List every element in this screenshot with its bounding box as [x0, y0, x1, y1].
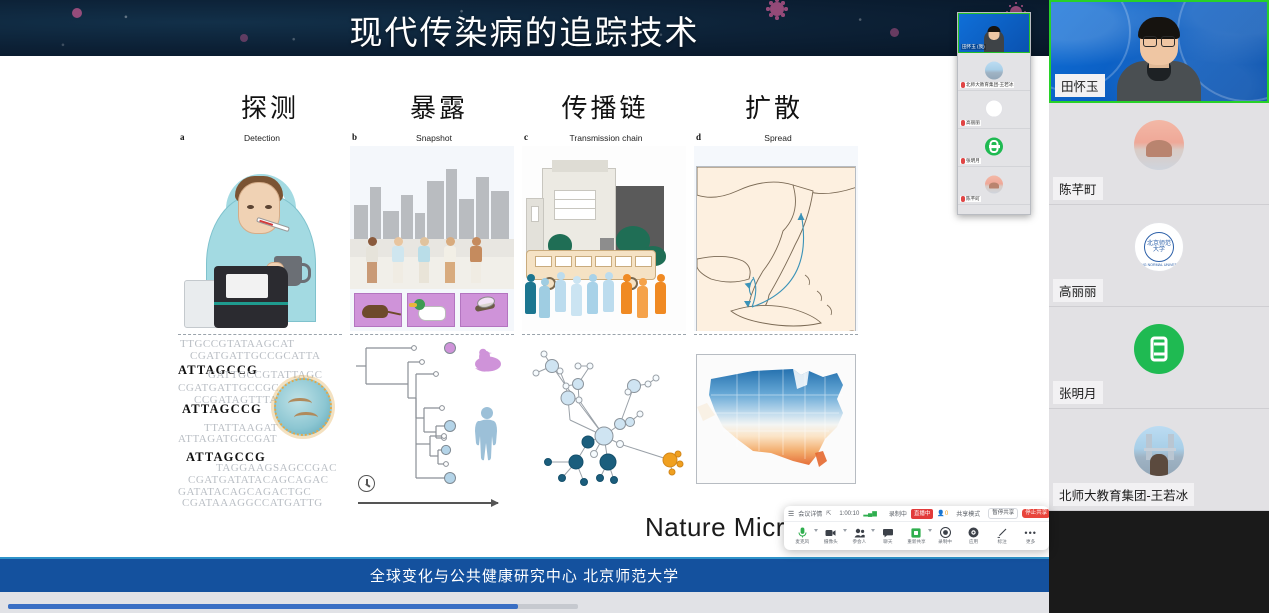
microphone-icon	[797, 527, 808, 538]
bus-window	[555, 256, 572, 267]
bus-window	[595, 256, 612, 267]
apps-icon	[968, 527, 979, 538]
dna-faint-line: CGATGATATACAGCAGAC	[188, 474, 328, 486]
slide-footer-band: 全球变化与公共健康研究中心 北京师范大学	[0, 559, 1049, 592]
window-band	[554, 190, 596, 220]
share-toolbar-status-row: ☰ 会议详情 ⇱ 1:00:10 ▂▄▆ 录制中 直播中 👤0 共享模式 暂停共…	[784, 506, 1049, 522]
atlantic-map	[696, 166, 856, 331]
dna-faint-line: CGATAAAGGCCATGATTG	[182, 497, 323, 509]
pedestrian	[416, 237, 432, 283]
pedestrian-legs	[393, 262, 403, 283]
crowd-person-body	[603, 280, 614, 312]
mini-participant-tile[interactable]: 高丽丽	[958, 91, 1030, 129]
toolbar-button-camera[interactable]: 摄像头	[818, 527, 844, 545]
section-header-spread: 扩散	[709, 88, 839, 125]
participant-count-icon[interactable]: 👤0	[937, 510, 948, 517]
skyline-building	[476, 177, 489, 239]
participant-name: 张明月	[1053, 381, 1103, 404]
crowd-person-body	[555, 280, 566, 312]
dna-sequence-illustration: TTGCCGTATAAGCAT CGATGATTGCCGCATTA ATTAGC…	[178, 340, 342, 518]
crowd-person-body	[655, 282, 666, 314]
slide-title: 现代传染病的追踪技术	[0, 6, 1049, 54]
participant-filmstrip[interactable]: 田怀玉 陈芊町 北京师范大学 BEIJING NORMAL UNIVERSITY…	[1049, 0, 1269, 613]
participant-name: 北师大教育集团-王若冰	[1053, 483, 1194, 506]
us-choropleth-map	[696, 354, 856, 484]
us-map-svg	[697, 355, 856, 484]
human-host-icon	[474, 406, 500, 467]
slide-bottom-strip	[0, 592, 1049, 613]
toolbar-button-chat[interactable]: 聊天	[875, 527, 901, 545]
hamburger-icon[interactable]: ☰	[788, 510, 794, 518]
mini-participant-name: 北师大教育集团-王若冰	[960, 82, 1014, 88]
section-header-transmission: 传播链	[540, 88, 670, 125]
mini-participant-tile[interactable]: 陈芊町	[958, 167, 1030, 205]
rat-icon	[362, 305, 388, 318]
phylogenetic-tree-illustration	[350, 340, 514, 518]
muted-mic-icon	[961, 196, 965, 202]
figure-panel-b: b Snapshot	[350, 128, 518, 528]
mosquito-icon	[475, 302, 496, 312]
crowd-person-infected	[654, 274, 667, 314]
hospital-building-roof	[552, 160, 608, 172]
toolbar-label: 录制中	[938, 539, 952, 545]
crowd-person-head	[527, 274, 535, 282]
crowd-person-body	[525, 282, 536, 314]
crowd-person-head	[623, 274, 631, 282]
duck-host-icon	[472, 348, 506, 379]
pedestrian	[468, 237, 484, 283]
animal-reservoir-duck	[407, 293, 455, 327]
clock-icon	[358, 475, 375, 492]
crowd-person	[586, 274, 599, 314]
skyline-building	[354, 205, 368, 239]
pedestrian-legs	[471, 262, 481, 283]
sequencer-light-unit	[184, 280, 218, 328]
window-line	[554, 208, 596, 209]
avatar	[1134, 426, 1184, 476]
avatar	[985, 99, 1003, 117]
share-toolbar-buttons-row: 麦克风 摄像头 参会人 聊天	[784, 522, 1049, 550]
person-silhouette	[1150, 454, 1168, 476]
eye-left-icon	[247, 205, 254, 209]
crowd-person-body	[539, 286, 550, 318]
dna-faint-line: ATTAGATGCCGAT	[178, 433, 277, 445]
mini-participant-name: 张明月	[960, 158, 981, 164]
crowd-person	[554, 272, 567, 312]
section-header-detection: 探测	[205, 88, 335, 125]
crowd-person-infected	[620, 274, 633, 314]
crowd-person	[538, 278, 551, 318]
share-mode-label: 共享模式	[956, 509, 980, 518]
bus-window	[535, 256, 552, 267]
toolbar-label: 麦克风	[795, 539, 809, 545]
eye-right-icon	[265, 205, 272, 209]
pause-share-button[interactable]: 暂停共享	[988, 508, 1018, 519]
crowd-person-head	[657, 274, 665, 282]
muted-mic-icon	[961, 82, 965, 88]
avatar: 北京师范大学 BEIJING NORMAL UNIVERSITY	[1134, 222, 1184, 272]
animal-reservoir-rat	[354, 293, 402, 327]
toolbar-button-microphone[interactable]: 麦克风	[789, 527, 815, 545]
presentation-progress-fill	[8, 604, 518, 609]
bnu-logo-subtext: BEIJING NORMAL UNIVERSITY	[1134, 263, 1184, 267]
mini-participant-name: 田怀玉 (我)	[961, 44, 986, 50]
dna-faint-line: TTGCCGTATAAGCAT	[180, 340, 295, 350]
participant-tile[interactable]: 张明月	[1049, 307, 1269, 409]
pedestrian-legs	[367, 262, 377, 283]
bus-window	[635, 256, 652, 267]
skyline-building	[427, 181, 444, 239]
dna-faint-line: CGATGATTGCCGC	[178, 382, 279, 394]
pedestrian-head	[472, 237, 481, 246]
transmission-network-illustration	[522, 340, 686, 518]
dna-faint-line: TAGGAAGSAGCCGAC	[216, 462, 337, 474]
participants-icon	[854, 527, 865, 538]
pedestrian	[364, 237, 380, 283]
slide-title-band: 现代传染病的追踪技术	[0, 0, 1049, 56]
network-svg	[522, 340, 686, 518]
chat-icon	[882, 527, 893, 538]
speaker-figure	[1117, 23, 1201, 101]
stop-share-button[interactable]: 停止共享	[1022, 509, 1049, 518]
live-badge[interactable]: 直播中	[911, 509, 934, 519]
skyline-building	[383, 211, 399, 239]
mini-participant-tile[interactable]: 田怀玉 (我)	[958, 13, 1030, 53]
small-window	[531, 206, 539, 222]
panel-caption-transmission-chain: Transmission chain	[522, 133, 690, 143]
animal-reservoir-mosquito	[460, 293, 508, 327]
crowd-person-head	[639, 278, 647, 286]
figure-grid: a Detection	[178, 128, 870, 528]
toolbar-button-apps[interactable]: 应用	[961, 527, 987, 545]
floating-participant-window[interactable]: 田怀玉 (我) 北师大教育集团-王若冰 高丽丽 张明月 陈芊町	[957, 12, 1031, 215]
participant-name: 高丽丽	[1053, 279, 1103, 302]
skyline-building	[370, 187, 381, 239]
pedestrian-torso	[418, 246, 430, 263]
panel-divider	[694, 334, 858, 335]
reshare-icon	[911, 527, 922, 538]
bridge-span	[1144, 448, 1176, 451]
pedestrian-head	[420, 237, 429, 246]
mini-participant-name: 陈芊町	[960, 196, 981, 202]
skyline-building	[459, 199, 474, 239]
panel-divider	[522, 334, 686, 335]
skyline-building	[401, 195, 413, 239]
participant-tile[interactable]: 北师大教育集团-王若冰	[1049, 409, 1269, 511]
skyline-building	[491, 191, 509, 239]
signal-bars-icon: ▂▄▆	[863, 510, 876, 517]
pedestrian	[390, 237, 406, 283]
annotate-icon	[997, 527, 1008, 538]
section-headers: 探测 暴露 传播链 扩散	[178, 88, 878, 126]
figure-panel-a: a Detection	[178, 128, 346, 528]
sequencer-accent-line	[214, 302, 288, 305]
detection-illustration	[178, 146, 342, 331]
crowd-person	[524, 274, 537, 314]
section-header-exposure: 暴露	[374, 88, 504, 125]
duck-bill-icon	[409, 303, 417, 307]
camera-icon	[825, 527, 836, 538]
panel-divider	[350, 334, 514, 335]
mini-participant-tile[interactable]: 张明月	[958, 129, 1030, 167]
pedestrian-legs	[445, 262, 455, 283]
presentation-progress-track[interactable]	[8, 604, 578, 609]
avatar	[985, 137, 1003, 155]
crowd-person-head	[557, 272, 565, 280]
toolbar-button-reshare[interactable]: 重新共享	[903, 527, 929, 545]
toolbar-button-participants[interactable]: 参会人	[846, 527, 872, 545]
pedestrian-head	[394, 237, 403, 246]
participant-name: 田怀玉	[1055, 74, 1105, 97]
bridge-tower	[1168, 434, 1174, 460]
toolbar-label: 参会人	[852, 539, 866, 545]
atlantic-map-svg	[697, 167, 856, 331]
avatar	[1134, 120, 1184, 170]
pedestrian-head	[446, 237, 455, 246]
bus-window	[615, 256, 632, 267]
virus-particle-icon	[274, 378, 332, 436]
figure-panel-c: c Transmission chain	[522, 128, 690, 528]
us-climate-map-illustration	[694, 340, 858, 518]
toolbar-label: 更多	[1026, 539, 1035, 545]
record-icon	[940, 527, 951, 538]
crowd-person-body	[637, 286, 648, 318]
panel-caption-spread: Spread	[694, 133, 862, 143]
participant-tile-speaker[interactable]: 田怀玉	[1049, 0, 1269, 103]
meeting-screen: 现代传染病的追踪技术 探测 暴露 传播链 扩散 a Detection	[0, 0, 1269, 613]
participant-tile[interactable]: 陈芊町	[1049, 103, 1269, 205]
toolbar-button-annotate[interactable]: 标注	[989, 527, 1015, 545]
pedestrian-head	[368, 237, 377, 246]
avatar	[985, 175, 1003, 193]
time-axis-arrow	[358, 502, 498, 504]
toolbar-label: 重新共享	[907, 539, 925, 545]
avatar	[985, 61, 1003, 79]
window-line	[554, 199, 596, 200]
panel-caption-snapshot: Snapshot	[350, 133, 518, 143]
recording-label: 录制中	[889, 509, 907, 518]
share-toolbar[interactable]: ☰ 会议详情 ⇱ 1:00:10 ▂▄▆ 录制中 直播中 👤0 共享模式 暂停共…	[784, 506, 1049, 550]
toolbar-button-recording[interactable]: 录制中	[932, 527, 958, 545]
slide-footer-text: 全球变化与公共健康研究中心 北京师范大学	[370, 565, 679, 586]
pedestrian-torso	[392, 246, 404, 263]
crowd-person-infected	[636, 278, 649, 318]
panel-caption-detection: Detection	[178, 133, 346, 143]
toolbar-label: 应用	[969, 539, 978, 545]
bus-window	[575, 256, 592, 267]
toolbar-label: 标注	[997, 539, 1006, 545]
muted-mic-icon	[961, 158, 965, 164]
figure-panel-d: d Spread	[694, 128, 862, 528]
mini-participant-name: 高丽丽	[960, 120, 981, 126]
participant-tile[interactable]: 北京师范大学 BEIJING NORMAL UNIVERSITY 高丽丽	[1049, 205, 1269, 307]
share-screen-icon[interactable]: ⇱	[826, 510, 831, 517]
dna-faint-line: CGATGATTGCCGCATTA	[190, 350, 320, 362]
skyline-building	[446, 169, 457, 239]
pedestrian-torso	[366, 246, 378, 263]
dna-bold-line: ATTAGCCG	[182, 402, 262, 417]
crowd-person-head	[589, 274, 597, 282]
toolbar-label: 摄像头	[824, 539, 838, 545]
pedestrian-legs	[419, 262, 429, 283]
crowd-person	[602, 272, 615, 312]
crowd-person-head	[541, 278, 549, 286]
avatar	[1134, 324, 1184, 374]
skyline-building	[415, 213, 425, 239]
crowd-person-head	[573, 276, 581, 284]
toolbar-button-more[interactable]: ••• 更多	[1018, 527, 1044, 545]
mini-participant-tile[interactable]: 北师大教育集团-王若冰	[958, 53, 1030, 91]
more-dots-icon: •••	[1025, 527, 1036, 538]
crowd-person-body	[587, 282, 598, 314]
pedestrian	[442, 237, 458, 283]
pedestrian-torso	[470, 246, 482, 263]
bnu-logo-icon: 北京师范大学	[1144, 232, 1174, 262]
wechat-icon	[1151, 337, 1168, 362]
elapsed-time: 1:00:10	[839, 511, 859, 517]
panel-divider	[178, 334, 342, 335]
wechat-icon	[990, 140, 999, 153]
meeting-details-label[interactable]: 会议详情	[798, 509, 822, 518]
crowd-person-body	[621, 282, 632, 314]
participant-name: 陈芊町	[1053, 177, 1103, 200]
crowd-person-body	[571, 284, 582, 316]
snapshot-illustration	[350, 146, 514, 331]
entrance-box	[600, 238, 614, 250]
sequencer-screen	[226, 274, 268, 298]
toolbar-label: 聊天	[883, 539, 892, 545]
glasses-icon	[1143, 36, 1175, 45]
pedestrian-torso	[444, 246, 456, 263]
muted-mic-icon	[961, 120, 965, 126]
dna-background: TTGCCGTATAAGCAT CGATGATTGCCGCATTA ATTAGC…	[178, 340, 342, 518]
crowd-person	[570, 276, 583, 316]
transmission-chain-illustration	[522, 146, 686, 331]
crowd-person-head	[605, 272, 613, 280]
spread-map-illustration	[694, 146, 858, 331]
